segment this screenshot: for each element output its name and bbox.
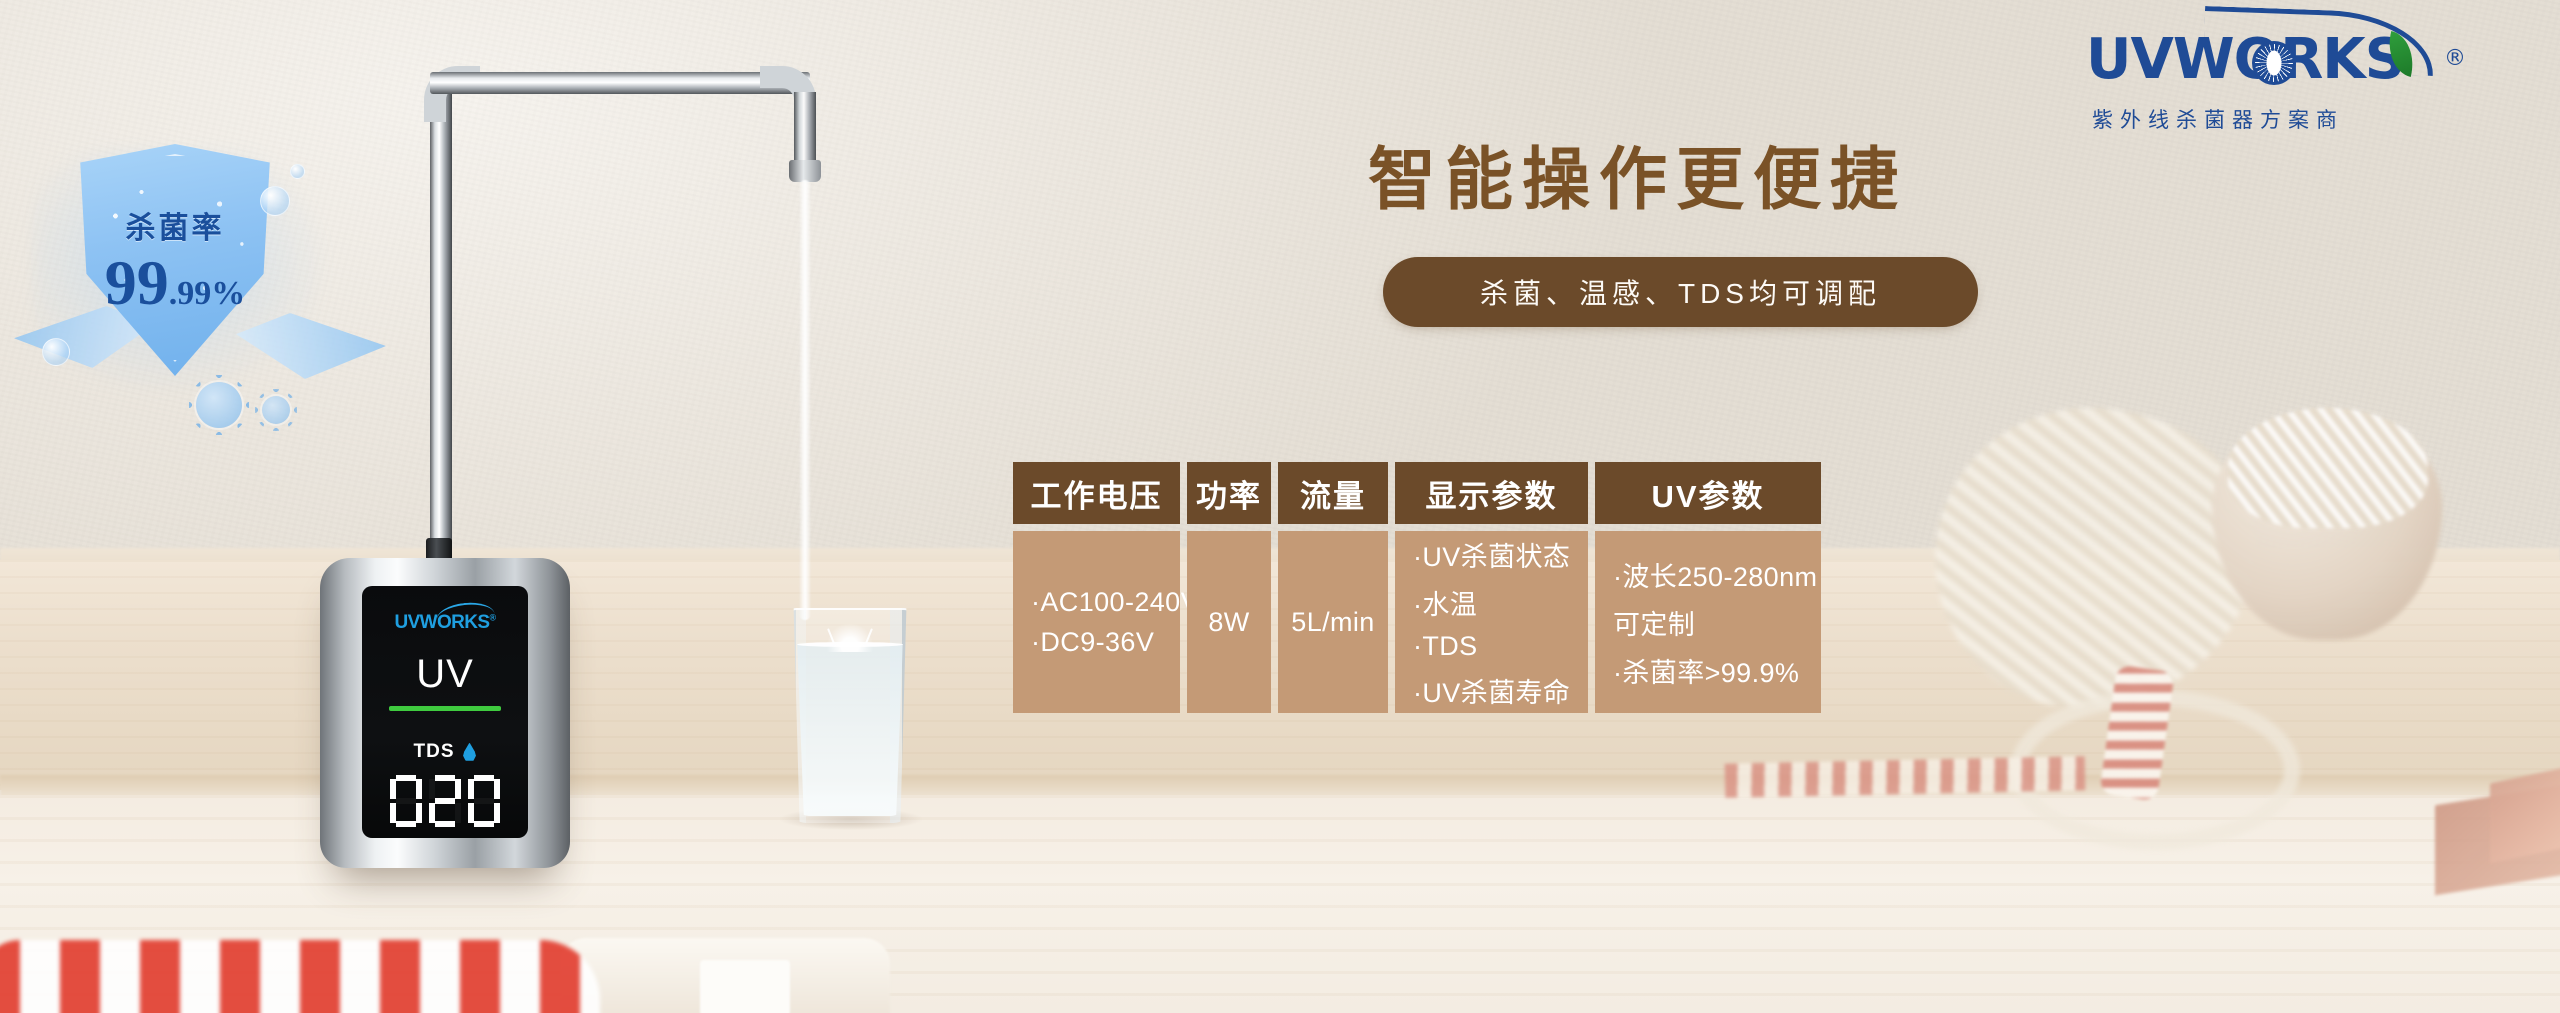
- spec-header: 显示参数: [1395, 462, 1588, 524]
- brand-tagline: 紫外线杀菌器方案商: [2092, 104, 2344, 134]
- water-splash: [818, 624, 882, 652]
- device-display-screen[interactable]: UVWORKS® UV TDS: [362, 586, 528, 838]
- wood-tile-prop-2: [2490, 766, 2560, 863]
- bubble-icon: [260, 186, 290, 216]
- bubble-icon: [290, 164, 305, 179]
- water-glass: [790, 608, 910, 823]
- checkered-cloth-prop: [0, 940, 600, 1013]
- spec-cell: 5L/min: [1278, 531, 1388, 713]
- feature-pill-badge: 杀菌、温感、TDS均可调配: [1383, 257, 1978, 327]
- spec-cell: ·AC100-240V ·DC9-36V: [1013, 531, 1180, 713]
- device-tds-row: TDS: [414, 741, 477, 763]
- badge-percent-major: 99: [105, 251, 169, 315]
- spec-column-flow: 流量 5L/min: [1278, 462, 1388, 713]
- device-tds-label: TDS: [414, 741, 455, 763]
- spec-header: 流量: [1278, 462, 1388, 524]
- device-tds-value: [390, 775, 500, 827]
- spec-cell: ·UV杀菌状态 ·水温 ·TDS ·UV杀菌寿命: [1395, 531, 1588, 713]
- spec-table: 工作电压 ·AC100-240V ·DC9-36V 功率 8W 流量 5L/mi…: [1013, 462, 1821, 713]
- registered-trademark-icon: ®: [2444, 48, 2465, 70]
- seven-segment-digit: [390, 775, 422, 827]
- spec-column-voltage: 工作电压 ·AC100-240V ·DC9-36V: [1013, 462, 1180, 713]
- spec-header: 工作电压: [1013, 462, 1180, 524]
- spec-cell-line: ·AC100-240V: [1031, 587, 1199, 618]
- water-drop-icon: [463, 743, 477, 762]
- bowl-label-prop: [700, 960, 790, 1013]
- germ-icon: [262, 396, 290, 424]
- basket-knit-texture: [2228, 408, 2428, 528]
- device-mode-label: UV: [416, 654, 474, 694]
- badge-text-group: 杀菌率 99 .99%: [72, 144, 278, 364]
- badge-title: 杀菌率: [126, 203, 225, 247]
- brand-logo: UVWORKS ® 紫外线杀菌器方案商: [2086, 32, 2486, 144]
- spec-cell: 8W: [1187, 531, 1271, 713]
- spec-cell-line: ·水温: [1413, 583, 1477, 622]
- germ-icon: [196, 382, 242, 428]
- sterilization-rate-badge: 杀菌率 99 .99%: [38, 138, 338, 398]
- spec-cell-line: ·DC9-36V: [1031, 627, 1154, 658]
- seven-segment-digit: [429, 775, 461, 827]
- spec-column-power: 功率 8W: [1187, 462, 1271, 713]
- badge-percent-minor: .99%: [169, 277, 246, 311]
- spec-cell-line: 8W: [1208, 607, 1249, 638]
- spec-cell-line: 5L/min: [1291, 607, 1374, 638]
- spec-header: 功率: [1187, 462, 1271, 524]
- spec-cell-line: ·UV杀菌状态: [1413, 535, 1570, 574]
- spec-column-uv: UV参数 ·波长250-280nm 可定制 ·杀菌率>99.9%: [1595, 462, 1821, 713]
- device-brand-logo: UVWORKS®: [394, 612, 495, 634]
- spec-cell: ·波长250-280nm 可定制 ·杀菌率>99.9%: [1595, 531, 1821, 713]
- spec-cell-line: ·UV杀菌寿命: [1413, 671, 1570, 710]
- spec-column-display: 显示参数 ·UV杀菌状态 ·水温 ·TDS ·UV杀菌寿命: [1395, 462, 1588, 713]
- device-status-bar: [389, 706, 501, 711]
- page-title: 智能操作更便捷: [1368, 124, 1907, 223]
- spec-cell-line: ·TDS: [1413, 631, 1478, 662]
- spec-cell-line: 可定制: [1613, 603, 1695, 642]
- spec-cell-line: ·杀菌率>99.9%: [1613, 651, 1799, 690]
- spec-header: UV参数: [1595, 462, 1821, 524]
- bubble-icon: [42, 338, 70, 366]
- brand-wordmark: UVWORKS ®: [2086, 32, 2486, 88]
- seven-segment-digit: [468, 775, 500, 827]
- badge-percent: 99 .99%: [105, 251, 246, 315]
- spec-cell-line: ·波长250-280nm: [1613, 555, 1817, 594]
- glass-water-fill: [795, 644, 905, 816]
- sunburst-icon: [2252, 41, 2296, 85]
- uv-sterilizer-device: UVWORKS® UV TDS: [320, 558, 570, 868]
